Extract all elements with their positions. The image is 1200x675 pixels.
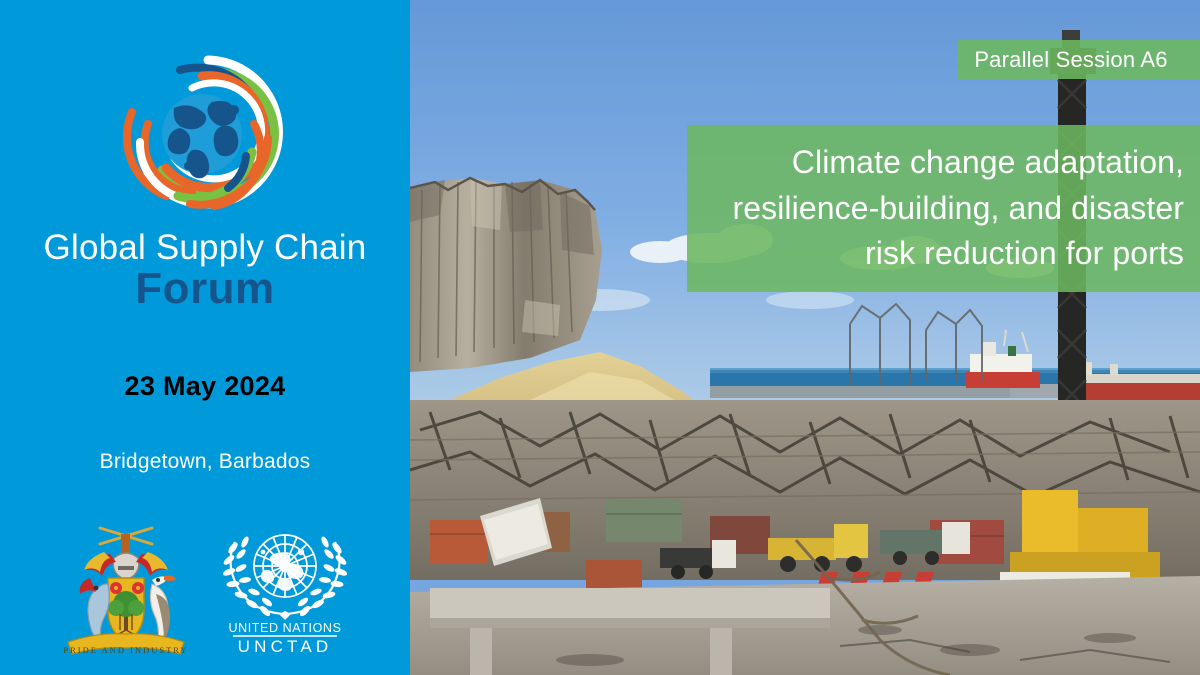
barbados-coat-of-arms-svg: PRIDE AND INDUSTRY [60, 518, 192, 658]
left-info-panel: Global Supply Chain Forum 23 May 2024 Br… [0, 0, 410, 675]
title-line-2: resilience-building, and disaster [732, 186, 1184, 231]
globe-swirl-logo-icon [96, 46, 316, 231]
port-destruction-photo [410, 0, 1200, 675]
background-photo [410, 0, 1200, 675]
session-title: Climate change adaptation, resilience-bu… [687, 125, 1184, 292]
united-nations-emblem-icon: UNITED NATIONS UNCTAD [205, 522, 365, 654]
title-line-3: risk reduction for ports [865, 231, 1184, 276]
logo-title-line-1: Global Supply Chain [0, 228, 410, 268]
event-location: Bridgetown, Barbados [0, 450, 410, 474]
title-line-1: Climate change adaptation, [792, 140, 1184, 185]
session-tag-label: Parallel Session A6 [958, 40, 1184, 79]
event-date: 23 May 2024 [0, 371, 410, 402]
united-nations-emblem-svg: UNITED NATIONS UNCTAD [205, 522, 365, 654]
session-tag: Parallel Session A6 [958, 40, 1200, 79]
emblem-row: PRIDE AND INDUSTRY [0, 510, 410, 660]
session-title-block: Climate change adaptation, resilience-bu… [687, 125, 1200, 292]
coat-of-arms-motto: PRIDE AND INDUSTRY [63, 645, 188, 655]
un-wordmark-line-2: UNCTAD [238, 637, 333, 654]
presentation-slide: Parallel Session A6 Climate change adapt… [0, 0, 1200, 675]
barbados-coat-of-arms-icon: PRIDE AND INDUSTRY [60, 518, 192, 658]
un-wordmark-line-1: UNITED NATIONS [228, 621, 341, 635]
globe-swirl-logo-svg [96, 46, 316, 231]
logo-title-line-2: Forum [0, 264, 410, 314]
